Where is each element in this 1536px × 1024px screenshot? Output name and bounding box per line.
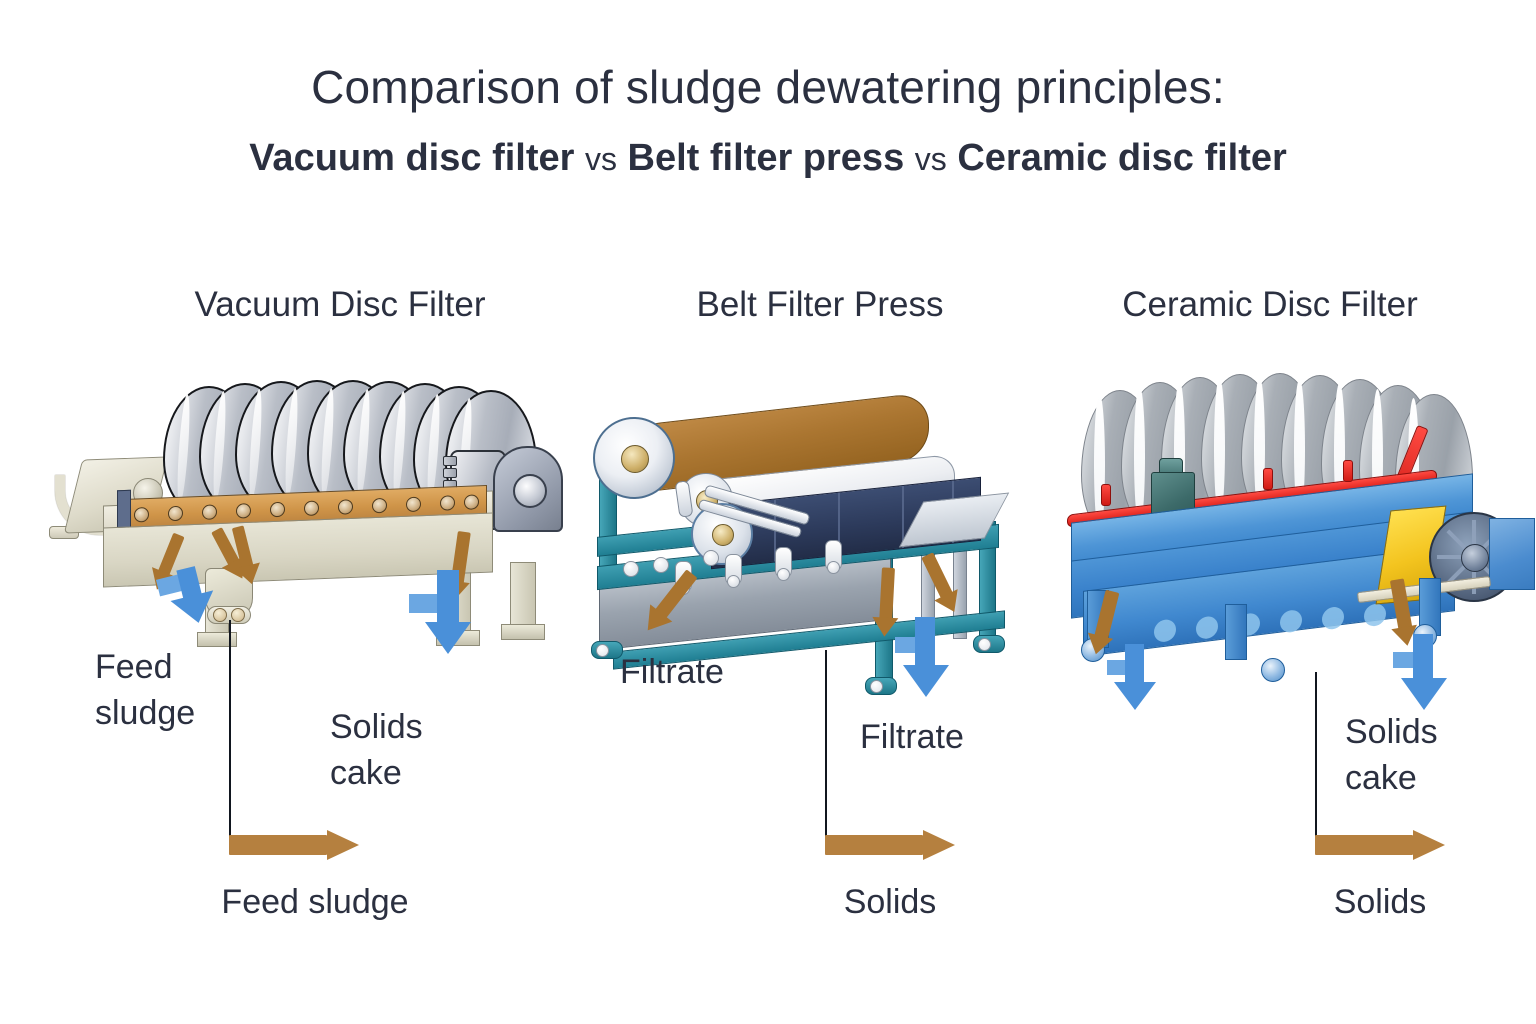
flow-label-belt: Solids — [730, 880, 1050, 926]
ceramic-red-clip-1 — [1101, 484, 1111, 506]
ceramic-red-clip-3 — [1263, 468, 1273, 490]
column-heading-ceramic-disc-filter: Ceramic Disc Filter — [1010, 285, 1530, 325]
ceramic-leg-mid — [1225, 604, 1247, 660]
label-vacuum-solids-cake: Solids cake — [330, 705, 510, 797]
label-vacuum-feed-sludge: Feed sludge — [95, 645, 245, 737]
flow-label-ceramic: Solids — [1220, 880, 1536, 926]
ceramic-side-gearbox — [1489, 518, 1535, 590]
belt-knob-3 — [703, 550, 719, 566]
leader-line-vacuum — [229, 620, 231, 845]
subtitle-vs-1: vs — [585, 141, 617, 177]
ceramic-disc-filter-illustration — [1065, 372, 1535, 702]
label-belt-filtrate-right: Filtrate — [860, 715, 1050, 761]
vacuum-leg-3 — [510, 562, 536, 632]
leader-line-belt — [825, 650, 827, 845]
subtitle-machine-a: Vacuum disc filter — [249, 137, 574, 179]
belt-knob-2 — [653, 557, 669, 573]
flow-label-vacuum: Feed sludge — [140, 880, 490, 926]
belt-foot-center — [865, 677, 897, 695]
belt-roller-end-disc — [593, 417, 675, 499]
flow-arrow-vacuum — [229, 830, 359, 860]
subtitle-machine-b: Belt filter press — [628, 137, 905, 179]
leader-line-ceramic — [1315, 672, 1317, 845]
page-subtitle: Vacuum disc filter vs Belt filter press … — [0, 138, 1536, 180]
vacuum-bearing-housing — [493, 446, 563, 532]
vacuum-disc-filter-illustration — [55, 380, 575, 670]
belt-knob-1 — [623, 561, 639, 577]
ceramic-red-clip-4 — [1343, 460, 1353, 482]
vacuum-inlet-side-flange — [117, 490, 131, 529]
flow-arrow-belt — [825, 830, 955, 860]
belt-spray-nozzle-2 — [725, 554, 742, 586]
column-heading-belt-filter-press: Belt Filter Press — [570, 285, 1070, 325]
label-ceramic-solids-cake: Solids cake — [1345, 710, 1505, 802]
subtitle-machine-c: Ceramic disc filter — [957, 137, 1286, 179]
vacuum-valve-bolt-2 — [231, 608, 245, 622]
belt-foot-left — [591, 641, 623, 659]
flow-arrow-ceramic — [1315, 830, 1445, 860]
column-heading-vacuum-disc-filter: Vacuum Disc Filter — [60, 285, 620, 325]
belt-spray-nozzle-3 — [775, 547, 792, 579]
belt-spray-nozzle-4 — [825, 540, 842, 572]
diagram-canvas: Comparison of sludge dewatering principl… — [0, 0, 1536, 1024]
ceramic-caster-mid — [1261, 658, 1285, 682]
page-title: Comparison of sludge dewatering principl… — [0, 62, 1536, 113]
vacuum-foot-3 — [501, 624, 545, 640]
belt-foot-right — [973, 635, 1005, 653]
subtitle-vs-2: vs — [915, 141, 947, 177]
label-belt-filtrate-left: Filtrate — [620, 650, 800, 696]
